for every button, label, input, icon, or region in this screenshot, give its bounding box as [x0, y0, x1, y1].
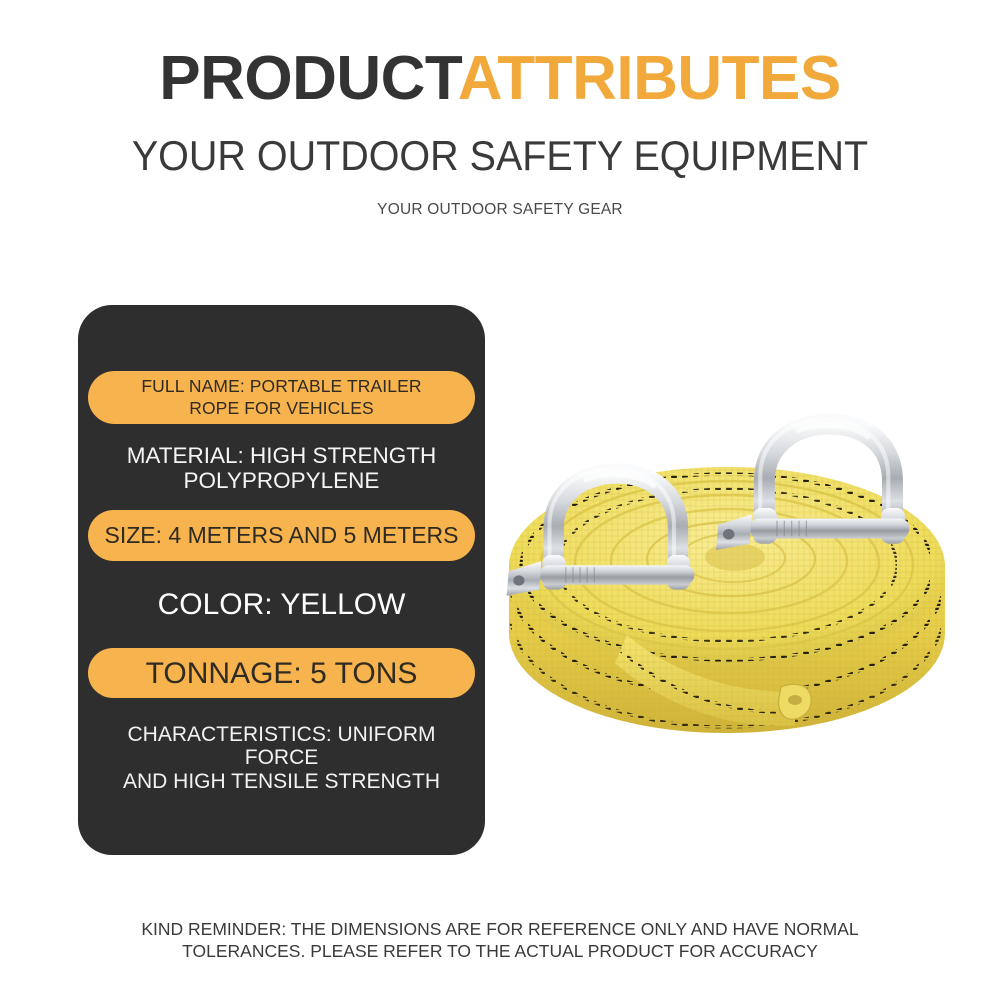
- spec-row-full-name: FULL NAME: PORTABLE TRAILER ROPE FOR VEH…: [88, 371, 475, 424]
- page-header: PRODUCTATTRIBUTES YOUR OUTDOOR SAFETY EQ…: [0, 0, 1000, 219]
- page-subtitle: YOUR OUTDOOR SAFETY EQUIPMENT: [30, 111, 970, 179]
- page-title: PRODUCTATTRIBUTES: [0, 0, 1000, 111]
- spec-row-tonnage-label: TONNAGE: 5 TONS: [88, 657, 475, 690]
- disclaimer-note: KIND REMINDER: THE DIMENSIONS ARE FOR RE…: [0, 918, 1000, 963]
- spec-row-characteristics-label: CHARACTERISTICS: UNIFORM FORCE AND HIGH …: [88, 723, 475, 794]
- spec-row-color: COLOR: YELLOW: [88, 580, 475, 628]
- product-image: [495, 395, 960, 785]
- strap-coil-body: [509, 467, 945, 733]
- shackle-left-pin: [539, 565, 694, 584]
- spec-row-size-label: SIZE: 4 METERS AND 5 METERS: [88, 523, 475, 548]
- spec-card: FULL NAME: PORTABLE TRAILER ROPE FOR VEH…: [78, 305, 485, 855]
- spec-row-material-label: MATERIAL: HIGH STRENGTH POLYPROPYLENE: [88, 443, 475, 493]
- spec-row-full-name-label: FULL NAME: PORTABLE TRAILER ROPE FOR VEH…: [88, 376, 475, 419]
- product-attributes-infographic: { "header": { "title_dark": "PRODUCT", "…: [0, 0, 1000, 1000]
- spec-row-material: MATERIAL: HIGH STRENGTH POLYPROPYLENE: [88, 440, 475, 496]
- spec-row-characteristics: CHARACTERISTICS: UNIFORM FORCE AND HIGH …: [88, 730, 475, 786]
- tow-strap-illustration: [495, 395, 960, 785]
- spec-row-size: SIZE: 4 METERS AND 5 METERS: [88, 510, 475, 561]
- spec-row-list: FULL NAME: PORTABLE TRAILER ROPE FOR VEH…: [78, 305, 485, 855]
- page-title-primary: PRODUCT: [159, 44, 457, 113]
- spec-row-tonnage: TONNAGE: 5 TONS: [88, 648, 475, 698]
- spec-row-color-label: COLOR: YELLOW: [88, 588, 475, 621]
- page-title-accent: ATTRIBUTES: [458, 44, 841, 113]
- shackle-right-pin: [750, 519, 910, 539]
- tow-strap-coil-image: [495, 395, 960, 785]
- page-tagline: YOUR OUTDOOR SAFETY GEAR: [0, 179, 1000, 219]
